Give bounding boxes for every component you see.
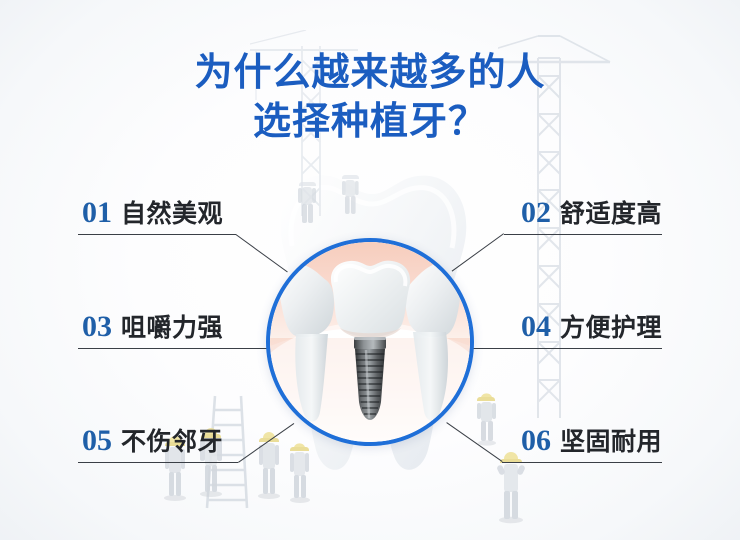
benefit-label-04[interactable]: 04 方便护理 xyxy=(402,312,662,342)
dental-implant-circle xyxy=(266,238,474,446)
benefit-number-03: 03 xyxy=(82,312,112,342)
benefit-text-02: 舒适度高 xyxy=(560,202,662,227)
poster-canvas: 为什么越来越多的人 选择种植牙？ xyxy=(0,0,740,540)
circle-ring-border xyxy=(266,238,474,446)
connector-line-06 xyxy=(502,462,662,463)
benefit-text-04: 方便护理 xyxy=(560,316,662,341)
poster-title: 为什么越来越多的人 选择种植牙？ xyxy=(0,52,740,143)
benefit-label-05[interactable]: 05 不伤邻牙 xyxy=(82,426,223,456)
connector-line-01 xyxy=(78,234,236,235)
benefit-label-02[interactable]: 02 舒适度高 xyxy=(402,198,662,228)
benefit-text-05: 不伤邻牙 xyxy=(121,430,223,455)
benefit-label-03[interactable]: 03 咀嚼力强 xyxy=(82,312,223,342)
benefit-label-01[interactable]: 01 自然美观 xyxy=(82,198,223,228)
benefit-label-06[interactable]: 06 坚固耐用 xyxy=(402,426,662,456)
benefit-number-05: 05 xyxy=(82,426,112,456)
benefit-text-06: 坚固耐用 xyxy=(560,430,662,455)
connector-line-03 xyxy=(78,348,270,349)
benefit-text-03: 咀嚼力强 xyxy=(121,316,223,341)
dental-implant-illustration xyxy=(270,242,470,442)
benefit-number-01: 01 xyxy=(82,198,112,228)
benefit-number-04: 04 xyxy=(521,312,551,342)
miniature-worker-icon xyxy=(296,172,320,226)
title-line-2: 选择种植牙？ xyxy=(0,101,740,144)
benefit-number-02: 02 xyxy=(521,198,551,228)
implant-illustration-clip xyxy=(270,242,470,442)
connector-line-05 xyxy=(78,462,238,463)
benefit-number-06: 06 xyxy=(521,426,551,456)
connector-line-04 xyxy=(470,348,662,349)
connector-line-02 xyxy=(504,234,662,235)
title-line-1: 为什么越来越多的人 xyxy=(194,52,545,94)
benefit-text-01: 自然美观 xyxy=(121,202,223,227)
miniature-worker-icon xyxy=(340,166,362,216)
